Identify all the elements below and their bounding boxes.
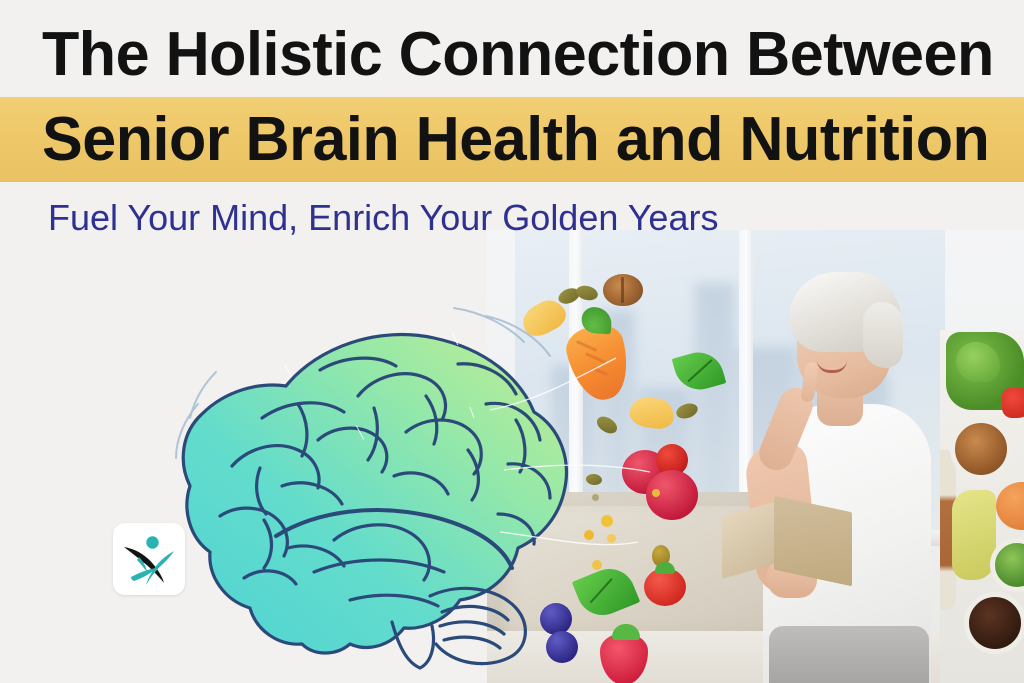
mixed-nuts-bowl [950,418,1012,480]
logo-running-figure-icon [119,529,179,589]
poster-canvas: The Holistic Connection Between Senior B… [0,0,1024,683]
book-page-right [774,496,852,587]
blueberry-icon [540,603,572,635]
page-title-line-1: The Holistic Connection Between [42,21,999,89]
tomato-icon [644,568,686,606]
page-subtitle: Fuel Your Mind, Enrich Your Golden Years [48,196,718,240]
seed-dot [607,534,616,543]
seed-dot [584,530,594,540]
seed-dot [592,560,602,570]
open-book [722,500,852,585]
senior-woman-figure [745,258,945,683]
dark-chocolate-bowl [964,592,1024,654]
red-pepper [1002,388,1024,418]
woman-hair-side [863,302,903,368]
healthy-food-tray [940,330,1024,683]
pumpkin [996,482,1024,530]
blueberry-icon [546,631,578,663]
seed-dot [592,494,599,501]
page-title-line-2: Senior Brain Health and Nutrition [42,104,999,176]
walnut-icon [603,274,643,306]
seed-dot [652,489,660,497]
woman-pants [769,626,929,683]
seed-dot [601,515,613,527]
brand-logo[interactable] [113,523,185,595]
brain-illustration [168,300,588,670]
